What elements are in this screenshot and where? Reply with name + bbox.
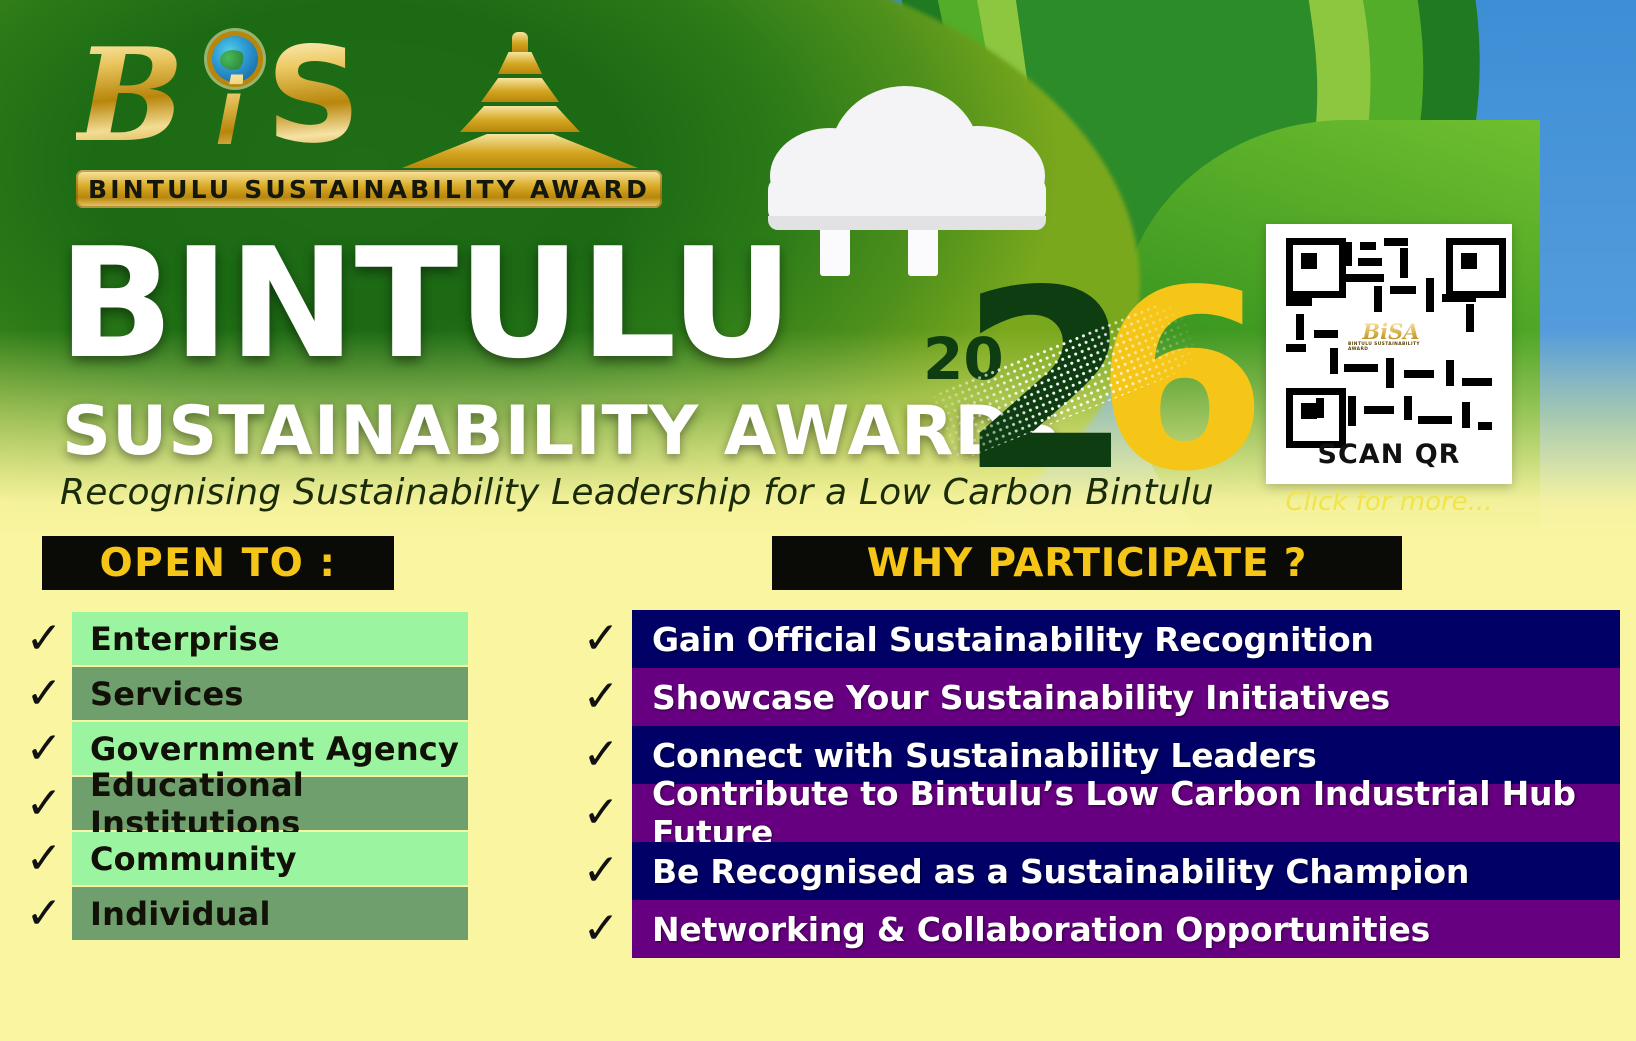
open-to-item-services: Services [72, 667, 468, 720]
click-for-more-link[interactable]: Click for more... [1266, 487, 1512, 517]
check-icon: ✓ [16, 782, 72, 826]
list-item-label: Be Recognised as a Sustainability Champi… [652, 852, 1469, 891]
why-item-champion: Be Recognised as a Sustainability Champi… [632, 842, 1620, 900]
why-item-contribute: Contribute to Bintulu’s Low Carbon Indus… [632, 784, 1620, 842]
list-item: ✓ Individual [16, 887, 468, 940]
qr-logo-text: BINTULU SUSTAINABILITY AWARD [1348, 342, 1434, 352]
open-to-item-individual: Individual [72, 887, 468, 940]
list-item-label: Contribute to Bintulu’s Low Carbon Indus… [652, 774, 1620, 852]
list-item: ✓ Services [16, 667, 468, 720]
list-item-label: Government Agency [90, 730, 459, 768]
logo-letter-b: B [76, 32, 184, 160]
poster-canvas: B i S BINTULU SUSTAINABILITY AWARD BINTU… [0, 0, 1636, 1041]
open-to-list: ✓ Enterprise ✓ Services ✓ Government Age… [16, 612, 468, 942]
why-participate-list: ✓ Gain Official Sustainability Recogniti… [570, 610, 1620, 958]
check-icon: ✓ [16, 837, 72, 881]
bisa-logo[interactable]: B i S BINTULU SUSTAINABILITY AWARD [70, 24, 670, 214]
list-item: ✓ Enterprise [16, 612, 468, 665]
page-title: BINTULU [58, 232, 793, 376]
scan-qr-label: SCAN QR [1266, 439, 1512, 470]
year-badge: 6 2 20 [905, 238, 1225, 488]
bisa-logo-marks: B i S [70, 24, 670, 166]
list-item-label: Individual [90, 895, 271, 933]
open-to-item-community: Community [72, 832, 468, 885]
list-item: ✓ Be Recognised as a Sustainability Cham… [570, 842, 1620, 900]
open-to-heading-text: OPEN TO : [99, 541, 336, 586]
check-icon: ✓ [16, 617, 72, 661]
why-item-networking: Networking & Collaboration Opportunities [632, 900, 1620, 958]
logo-nameplate-text: BINTULU SUSTAINABILITY AWARD [88, 175, 650, 204]
check-icon: ✓ [16, 672, 72, 716]
list-item-label: Enterprise [90, 620, 280, 658]
list-item: ✓ Showcase Your Sustainability Initiativ… [570, 668, 1620, 726]
list-item: ✓ Educational Institutions [16, 777, 468, 830]
check-icon: ✓ [570, 675, 632, 719]
list-item-label: Community [90, 840, 297, 878]
open-to-item-enterprise: Enterprise [72, 612, 468, 665]
check-icon: ✓ [570, 907, 632, 951]
qr-logo-mark: BiSA [1362, 321, 1419, 342]
logo-letter-i: i [216, 64, 243, 160]
list-item-label: Showcase Your Sustainability Initiatives [652, 678, 1390, 717]
check-icon: ✓ [570, 617, 632, 661]
list-item-label: Gain Official Sustainability Recognition [652, 620, 1374, 659]
why-item-recognition: Gain Official Sustainability Recognition [632, 610, 1620, 668]
list-item-label: Connect with Sustainability Leaders [652, 736, 1317, 775]
why-participate-heading: WHY PARTICIPATE ? [772, 536, 1402, 590]
list-item: ✓ Gain Official Sustainability Recogniti… [570, 610, 1620, 668]
gas-tower-icon [400, 30, 640, 166]
open-to-heading: OPEN TO : [42, 536, 394, 590]
check-icon: ✓ [570, 849, 632, 893]
list-item: ✓ Community [16, 832, 468, 885]
cloud-icon [760, 78, 1050, 213]
qr-code-card[interactable]: BiSA BINTULU SUSTAINABILITY AWARD SCAN Q… [1266, 224, 1512, 484]
list-item: ✓ Contribute to Bintulu’s Low Carbon Ind… [570, 784, 1620, 842]
check-icon: ✓ [16, 727, 72, 771]
why-participate-heading-text: WHY PARTICIPATE ? [867, 541, 1307, 586]
check-icon: ✓ [16, 892, 72, 936]
open-to-item-educational-institutions: Educational Institutions [72, 777, 468, 830]
list-item-label: Networking & Collaboration Opportunities [652, 910, 1430, 949]
list-item-label: Services [90, 675, 244, 713]
qr-code-icon[interactable]: BiSA BINTULU SUSTAINABILITY AWARD [1286, 238, 1492, 434]
logo-letter-s: S [266, 30, 361, 162]
logo-nameplate: BINTULU SUSTAINABILITY AWARD [76, 170, 662, 208]
check-icon: ✓ [570, 733, 632, 777]
check-icon: ✓ [570, 791, 632, 835]
why-item-showcase: Showcase Your Sustainability Initiatives [632, 668, 1620, 726]
list-item: ✓ Networking & Collaboration Opportuniti… [570, 900, 1620, 958]
qr-embedded-logo: BiSA BINTULU SUSTAINABILITY AWARD [1348, 316, 1434, 356]
list-item-label: Educational Institutions [90, 766, 468, 842]
